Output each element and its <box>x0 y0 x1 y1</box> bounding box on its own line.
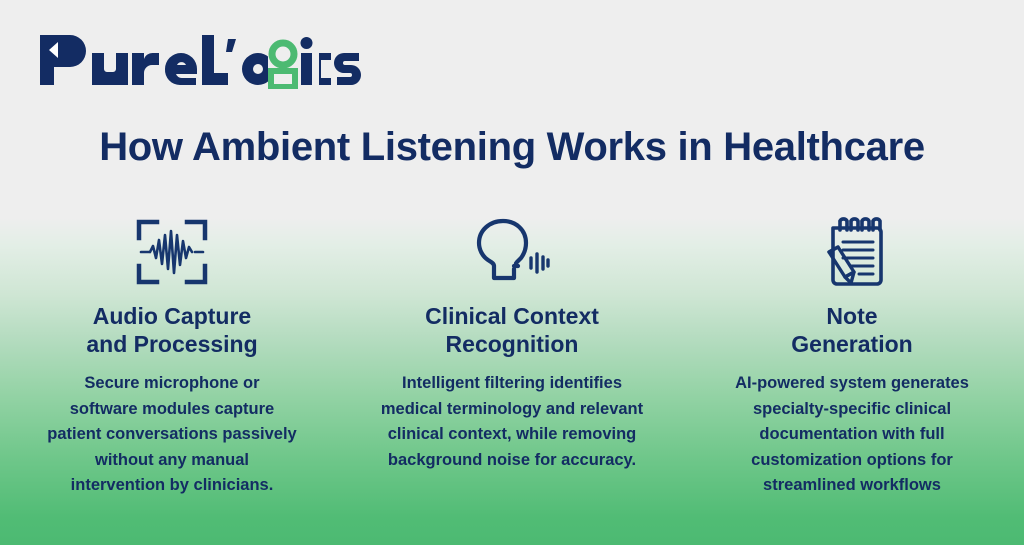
feature-columns: Audio Capture and Processing Secure micr… <box>0 214 1024 499</box>
logo-letter-o-green <box>272 43 294 65</box>
column-heading: Note Generation <box>791 302 912 358</box>
column-body: Intelligent filtering identifies medical… <box>381 371 643 473</box>
page-title: How Ambient Listening Works in Healthcar… <box>0 124 1024 170</box>
column-heading: Audio Capture and Processing <box>86 302 257 358</box>
notepad-pencil-icon <box>813 214 891 290</box>
head-profile-speech-icon <box>473 214 551 290</box>
logo-letters-ure <box>92 53 197 85</box>
purelogics-logo <box>36 31 361 89</box>
feature-column-clinical-context: Clinical Context Recognition Intelligent… <box>337 214 687 473</box>
column-body: Secure microphone or software modules ca… <box>47 371 296 499</box>
logo-letter-o-navy <box>242 53 268 85</box>
feature-column-audio-capture: Audio Capture and Processing Secure micr… <box>7 214 337 499</box>
speech-waves <box>531 254 548 272</box>
note-lines <box>843 242 873 274</box>
feature-column-note-generation: Note Generation AI-powered system genera… <box>687 214 1017 499</box>
logo-green-square <box>271 71 295 87</box>
logo-letter-p <box>40 35 86 85</box>
logo-letter-l <box>202 35 236 85</box>
column-heading: Clinical Context Recognition <box>425 302 599 358</box>
audio-waveform-scan-icon <box>135 214 209 290</box>
logo-letters-ics <box>301 37 362 85</box>
column-body: AI-powered system generates specialty-sp… <box>735 371 969 499</box>
